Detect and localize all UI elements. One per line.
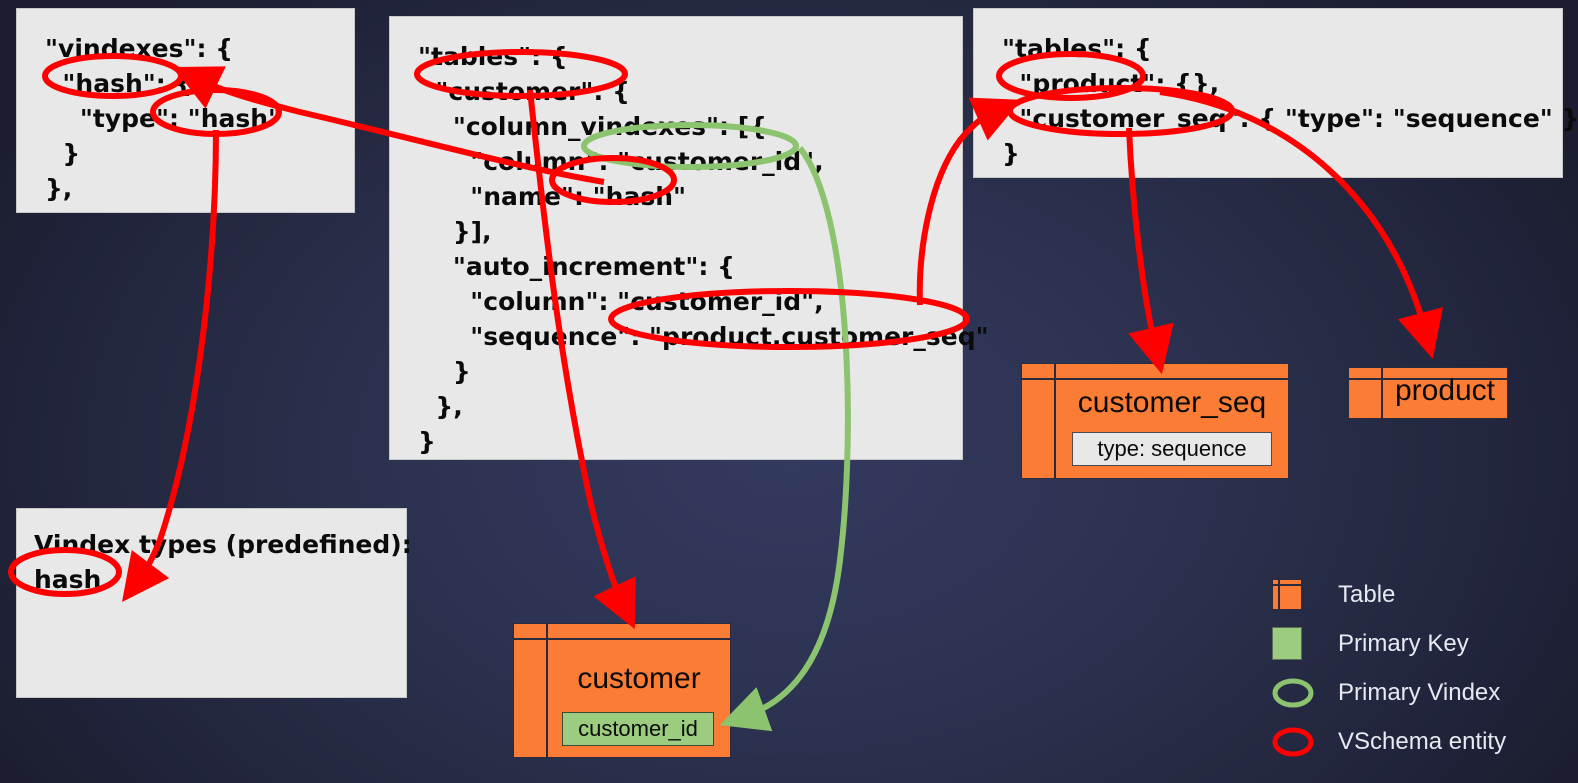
legend-label: Primary Key — [1338, 630, 1469, 658]
legend-item-primary-key: Primary Key — [1272, 619, 1506, 668]
tables-code: "tables": { "customer": { "column_vindex… — [390, 17, 962, 459]
table-node-customer-seq[interactable]: customer_seq type: sequence — [1021, 363, 1289, 479]
primary-key-swatch-icon — [1272, 627, 1318, 660]
table-header-divider — [1022, 378, 1288, 380]
diagram-canvas: "vindexes": { "hash": { "type": "hash" }… — [0, 0, 1578, 783]
table-name-label: customer_seq — [1056, 386, 1288, 420]
table-name-label: product — [1383, 374, 1507, 408]
table-column-divider — [1054, 364, 1056, 478]
legend-item-table: Table — [1272, 570, 1506, 619]
primary-vindex-ellipse-icon — [1272, 676, 1318, 710]
vindex-types-panel: Vindex types (predefined): hash — [16, 508, 407, 698]
legend: Table Primary Key Primary Vindex VSchema — [1272, 570, 1506, 766]
table-node-product[interactable]: product — [1348, 367, 1508, 419]
vindexes-code: "vindexes": { "hash": { "type": "hash" }… — [17, 9, 354, 206]
vindex-types-code: Vindex types (predefined): hash — [17, 509, 406, 597]
legend-label: VSchema entity — [1338, 728, 1506, 756]
unsharded-keyspace-panel: "tables": { "product": {}, "customer_seq… — [973, 8, 1563, 178]
legend-item-vschema-entity: VSchema entity — [1272, 717, 1506, 766]
legend-item-primary-vindex: Primary Vindex — [1272, 668, 1506, 717]
keyspace-code: "tables": { "product": {}, "customer_seq… — [974, 9, 1562, 171]
table-swatch-icon — [1272, 579, 1318, 610]
legend-label: Primary Vindex — [1338, 679, 1500, 707]
legend-label: Table — [1338, 581, 1395, 609]
primary-key-customer-id[interactable]: customer_id — [562, 712, 714, 746]
table-node-customer[interactable]: customer customer_id — [513, 623, 731, 758]
vschema-entity-ellipse-icon — [1272, 725, 1318, 759]
sequence-type-attribute: type: sequence — [1072, 432, 1272, 466]
tables-panel: "tables": { "customer": { "column_vindex… — [389, 16, 963, 460]
table-name-label: customer — [548, 662, 730, 696]
vindexes-panel: "vindexes": { "hash": { "type": "hash" }… — [16, 8, 355, 213]
